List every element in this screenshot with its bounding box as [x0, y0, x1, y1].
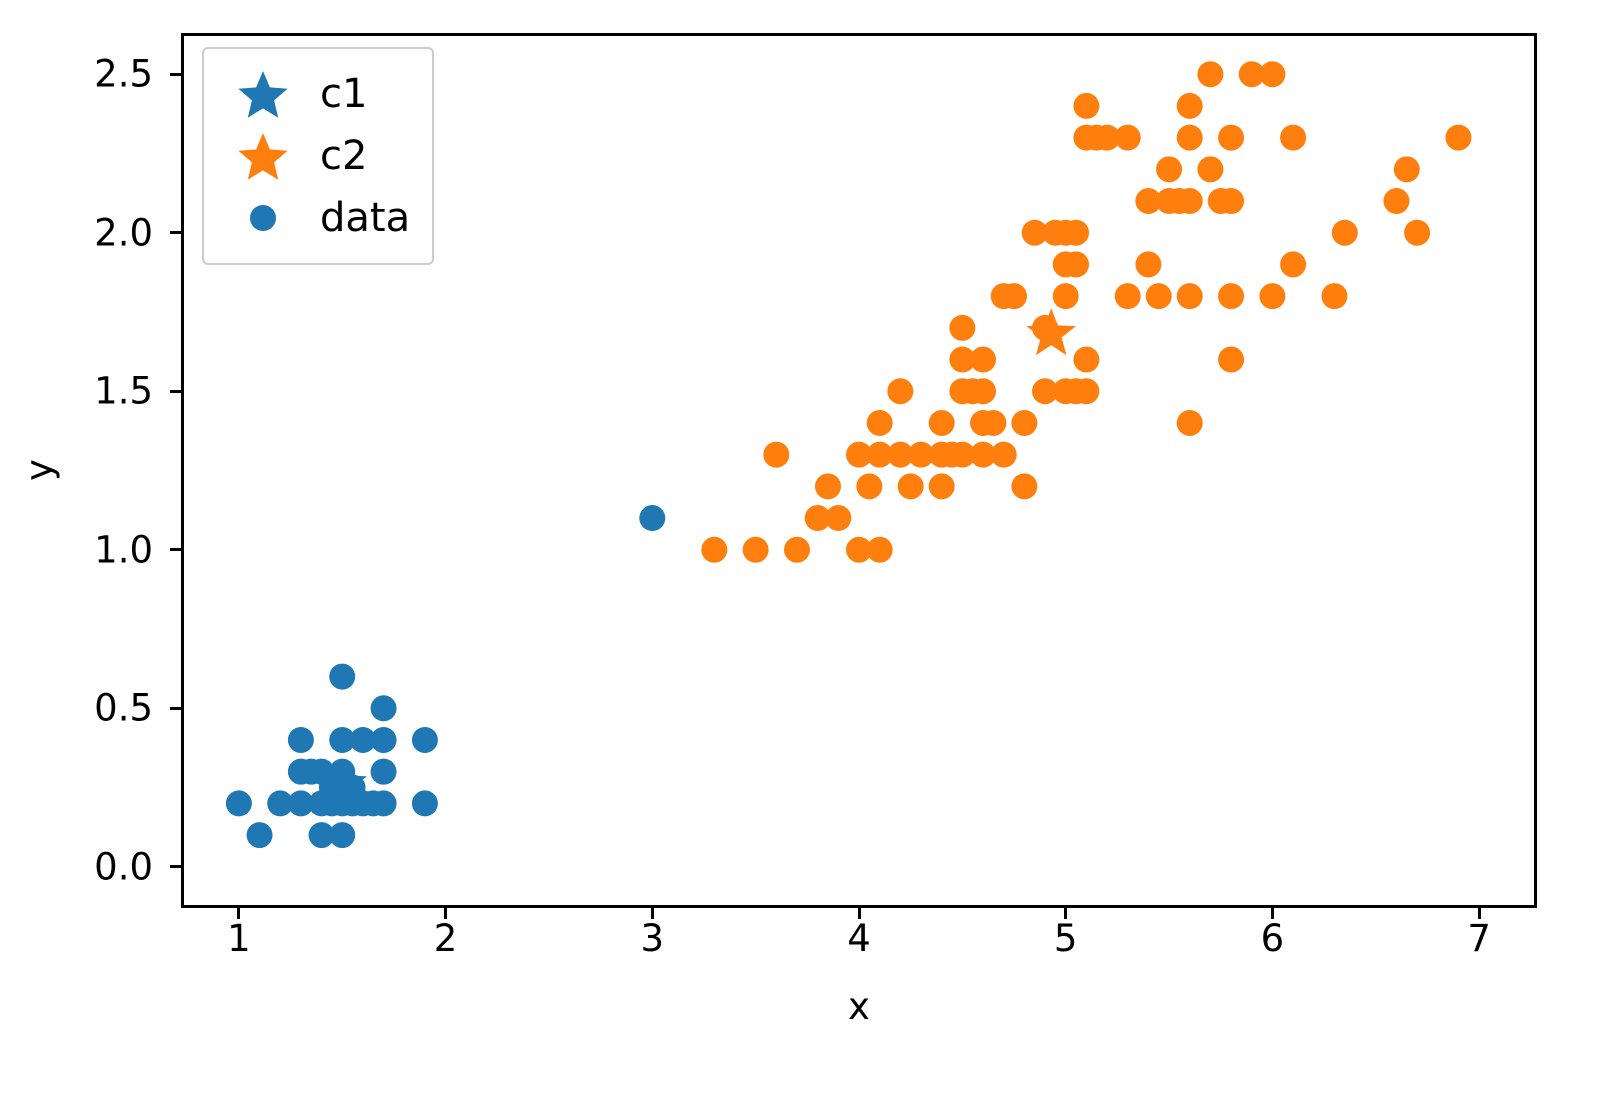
- legend-item-data: data: [220, 187, 410, 249]
- star-icon: [220, 66, 306, 122]
- y-tick-mark: [170, 231, 181, 234]
- x-tick-label: 5: [1054, 920, 1078, 957]
- legend: c1 c2 data: [202, 47, 434, 265]
- y-tick-label: 2.0: [94, 214, 153, 251]
- legend-item-c1: c1: [220, 63, 410, 125]
- y-tick-mark: [170, 390, 181, 393]
- x-tick-label: 1: [227, 920, 251, 957]
- star-icon: [220, 128, 306, 184]
- y-tick-mark: [170, 73, 181, 76]
- x-tick-label: 4: [847, 920, 871, 957]
- legend-label-c2: c2: [320, 133, 367, 179]
- y-tick-label: 2.5: [94, 56, 153, 93]
- x-axis-label: x: [848, 985, 870, 1028]
- y-tick-label: 1.5: [94, 373, 153, 410]
- y-tick-label: 1.0: [94, 531, 153, 568]
- scatter-plot-figure: 0.00.51.01.52.02.51234567 x y c1 c2 data: [0, 0, 1610, 1095]
- y-axis-label: y: [17, 459, 60, 481]
- y-tick-mark: [170, 865, 181, 868]
- x-tick-label: 3: [641, 920, 665, 957]
- legend-label-c1: c1: [320, 71, 367, 117]
- x-tick-label: 2: [434, 920, 458, 957]
- circle-icon: [220, 190, 306, 246]
- x-tick-label: 6: [1261, 920, 1285, 957]
- y-tick-label: 0.0: [94, 848, 153, 885]
- x-tick-label: 7: [1467, 920, 1491, 957]
- y-tick-mark: [170, 548, 181, 551]
- y-axis-label-wrapper: y: [28, 449, 50, 492]
- y-tick-label: 0.5: [94, 690, 153, 727]
- legend-item-c2: c2: [220, 125, 410, 187]
- y-tick-mark: [170, 707, 181, 710]
- legend-label-data: data: [320, 195, 410, 241]
